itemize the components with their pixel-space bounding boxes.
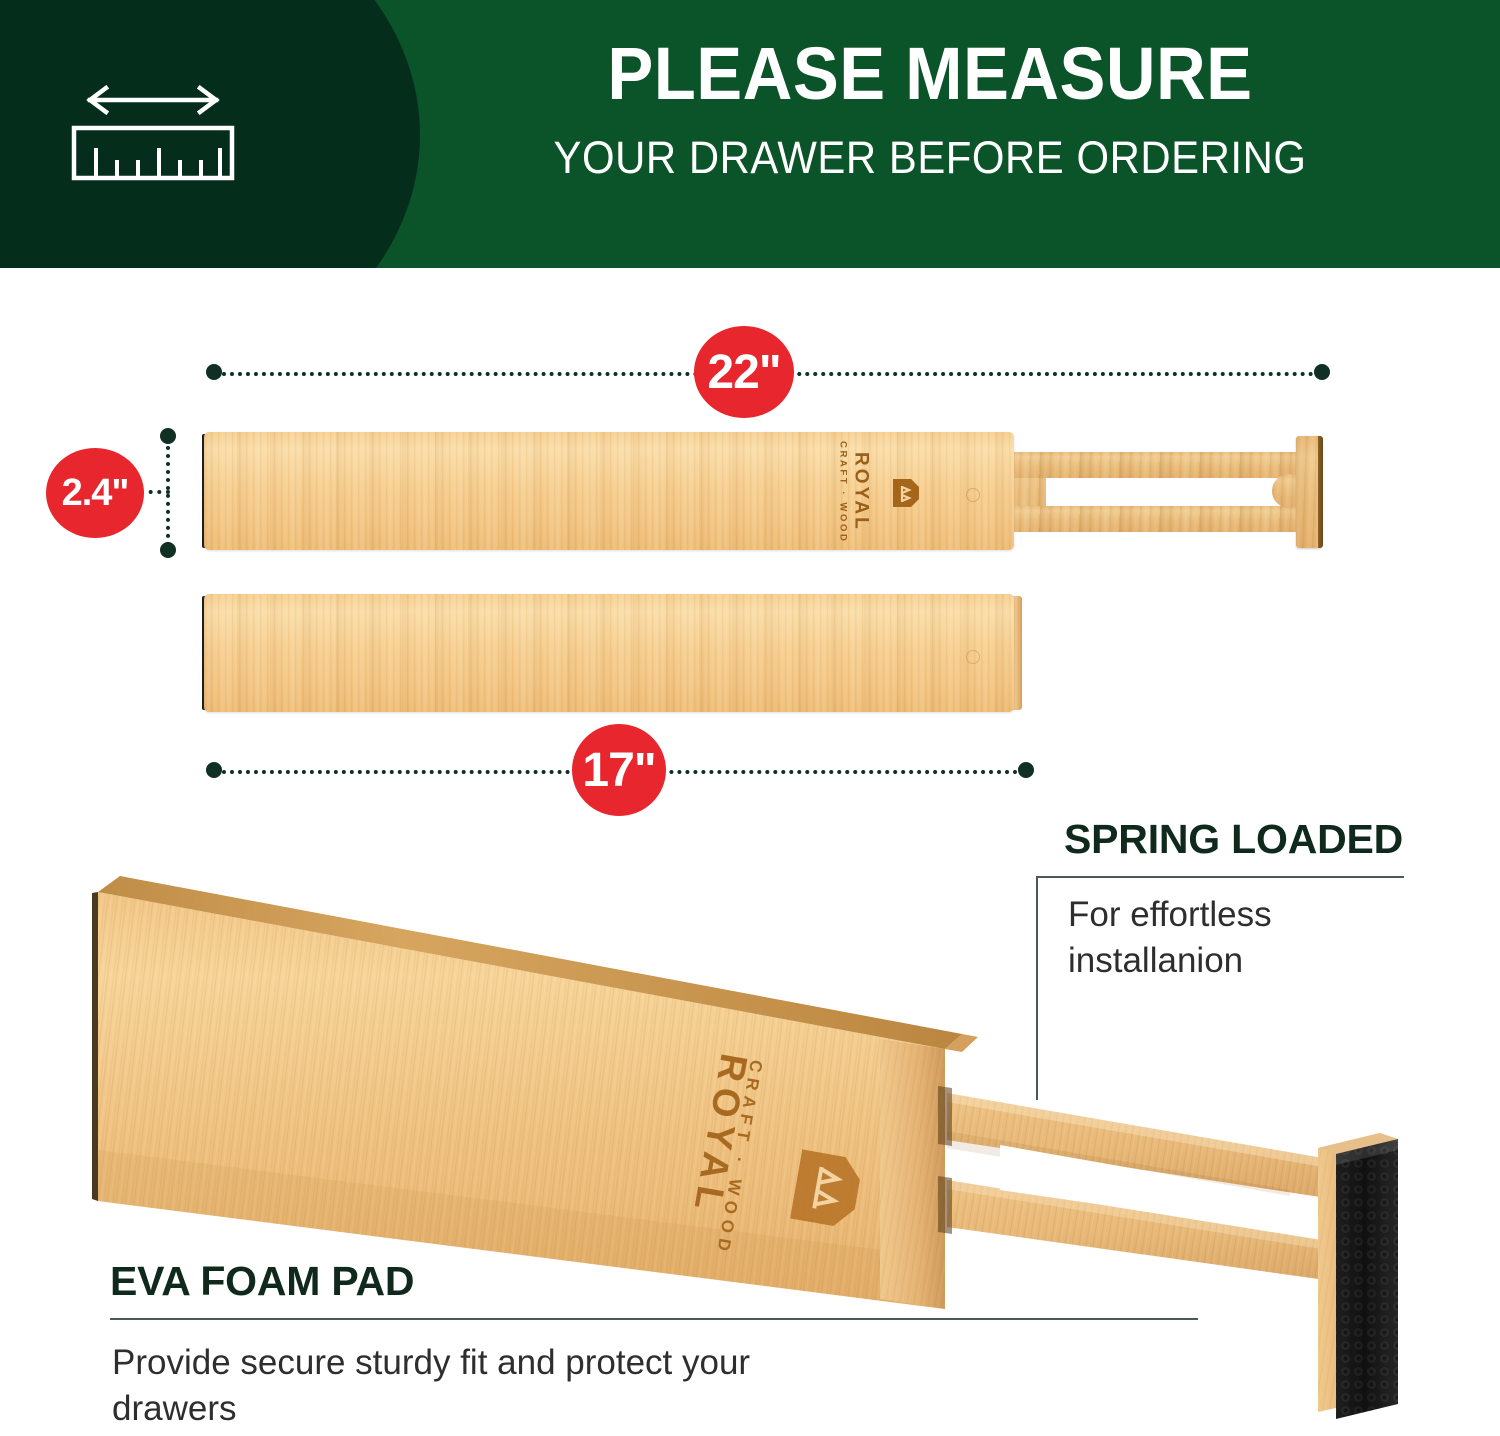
eva-foam-pad-hero — [1336, 1139, 1398, 1419]
brand-name: ROYAL — [852, 452, 871, 532]
hero-arm-slot — [1000, 1145, 1302, 1232]
crown-shield-icon — [889, 473, 923, 511]
divider1-arm-rail-bottom — [1000, 506, 1310, 532]
svg-text:ROYAL: ROYAL — [685, 1050, 755, 1219]
brand-tagline: CRAFT · WOOD — [838, 441, 848, 543]
page-title: PLEASE MEASURE — [428, 34, 1432, 114]
page-subtitle: YOUR DRAWER BEFORE ORDERING — [428, 132, 1432, 184]
badge-height-24: 2.4" — [46, 448, 144, 538]
divider1-screw-mark — [966, 488, 980, 502]
callout-rule-eva — [110, 1318, 1198, 1320]
collapsed-endpoint-right — [1018, 762, 1034, 778]
hero-body-end-block — [880, 1034, 978, 1309]
height-endpoint-bottom — [160, 542, 176, 558]
svg-text:CRAFT · WOOD: CRAFT · WOOD — [713, 1058, 766, 1258]
hero-divider-body — [92, 876, 962, 1309]
brand-logo-divider1: CRAFT · WOOD ROYAL — [838, 452, 923, 532]
divider2-screw-mark — [966, 650, 980, 664]
header-text-block: PLEASE MEASURE YOUR DRAWER BEFORE ORDERI… — [390, 34, 1470, 184]
callout-rule-spring-left — [1036, 876, 1038, 1100]
header-banner: PLEASE MEASURE YOUR DRAWER BEFORE ORDERI… — [0, 0, 1500, 268]
dimension-endpoint-right — [1314, 364, 1330, 380]
callout-body-spring-loaded: For effortless installanion — [1068, 892, 1398, 983]
divider2-body — [204, 594, 1014, 712]
callout-body-eva-foam: Provide secure sturdy fit and protect yo… — [112, 1340, 752, 1431]
callout-title-spring-loaded: SPRING LOADED — [1064, 816, 1403, 863]
hero-spring-arm — [947, 1093, 1340, 1282]
divider1-arm-rail-top — [1000, 452, 1310, 478]
divider1-end-cap-edge — [1318, 436, 1323, 548]
callout-rule-spring-top — [1036, 876, 1404, 878]
ruler-measure-icon — [68, 76, 238, 186]
brand-logo-hero: ROYAL CRAFT · WOOD — [678, 1050, 877, 1277]
badge-collapsed-17: 17" — [572, 724, 666, 816]
height-leader-line — [140, 490, 170, 494]
callout-title-eva-foam: EVA FOAM PAD — [110, 1258, 414, 1305]
badge-width-22: 22" — [694, 326, 794, 418]
hero-end-cap — [1318, 1133, 1398, 1412]
